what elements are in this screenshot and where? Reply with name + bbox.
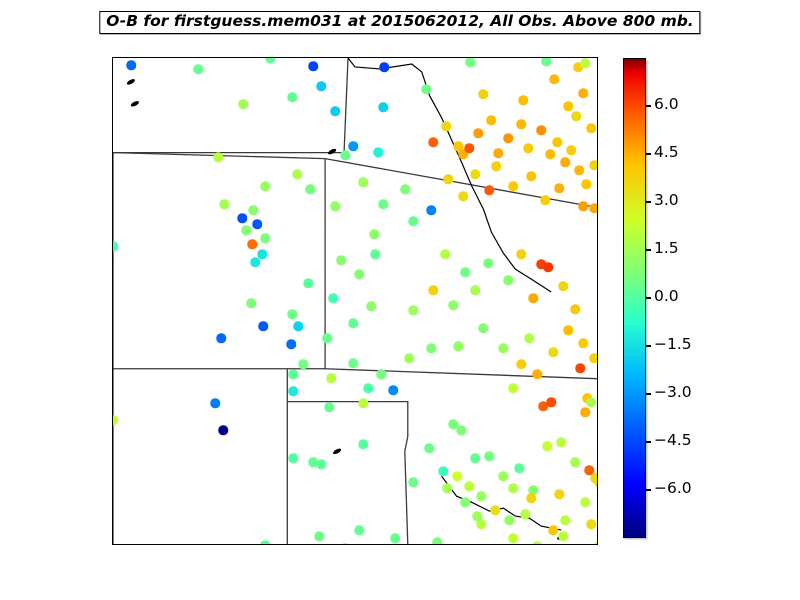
- map-plot-area[interactable]: [112, 57, 598, 545]
- colorbar-tick-label: −3.0: [654, 383, 692, 401]
- colorbar-tick-mark: [646, 345, 651, 347]
- colorbar-tick-label: −6.0: [654, 479, 692, 497]
- state-outline-group: [113, 58, 597, 544]
- river-outline-group: [348, 58, 561, 530]
- lake-marker-group: [126, 78, 566, 541]
- lake-marker-lake-meredith: [332, 448, 342, 456]
- colorbar-tick-mark: [646, 105, 651, 107]
- river-line: [348, 58, 551, 292]
- colorbar-tick-mark: [646, 393, 651, 395]
- state-boundary-line: [325, 159, 597, 379]
- lake-marker-lake-texoma: [556, 533, 566, 541]
- colorbar-tick-mark: [646, 441, 651, 443]
- colorbar-tick-mark: [646, 489, 651, 491]
- colorbar-tick-mark: [646, 297, 651, 299]
- colorbar-tick-label: 0.0: [654, 287, 679, 305]
- lake-marker-utah-lake: [130, 100, 140, 108]
- colorbar-tick-label: 3.0: [654, 191, 679, 209]
- colorbar[interactable]: [623, 58, 646, 538]
- colorbar-tick-mark: [646, 201, 651, 203]
- colorbar-tick-label: 6.0: [654, 95, 679, 113]
- state-boundary-line: [113, 153, 597, 208]
- river-line: [442, 476, 562, 530]
- colorbar-gradient: [624, 59, 645, 537]
- colorbar-tick-label: 1.5: [654, 239, 679, 257]
- lake-marker-great-salt-lake: [126, 78, 136, 86]
- state-boundary-line: [287, 402, 408, 544]
- colorbar-tick-mark: [646, 249, 651, 251]
- colorbar-tick-label: 4.5: [654, 143, 679, 161]
- colorbar-tick-label: −4.5: [654, 431, 692, 449]
- state-boundary-line: [113, 58, 348, 153]
- colorbar-tick-mark: [646, 153, 651, 155]
- lake-marker-lake-mcconaughy: [327, 148, 337, 156]
- state-boundaries-layer: [113, 58, 597, 544]
- page-title: O-B for firstguess.mem031 at 2015062012,…: [99, 11, 700, 34]
- colorbar-tick-label: −1.5: [654, 335, 692, 353]
